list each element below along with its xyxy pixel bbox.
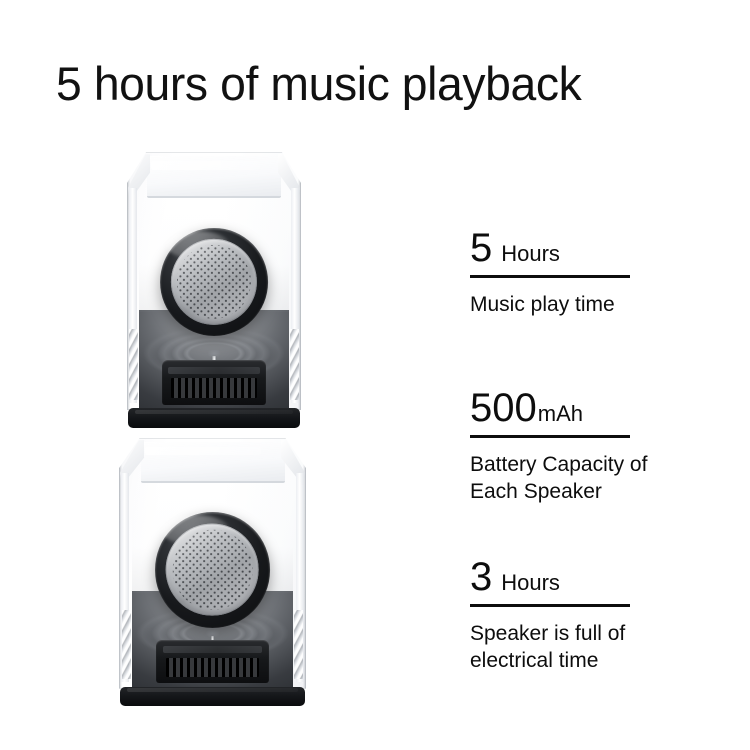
spec-value: 3 — [470, 555, 492, 599]
spec-description: Battery Capacity ofEach Speaker — [470, 451, 730, 505]
faceted-strip-left — [122, 610, 132, 680]
spec-item-charge: 3 Hours Speaker is full ofelectrical tim… — [470, 555, 730, 674]
base-vent-block — [162, 360, 266, 404]
acrylic-lid — [141, 442, 285, 483]
speaker-unit-bottom — [119, 438, 306, 706]
faceted-strip-right — [290, 329, 299, 401]
base-plinth — [128, 408, 300, 428]
faceted-strip-right — [294, 610, 304, 680]
spec-value: 500 — [470, 386, 537, 430]
spec-headline: 5 Hours — [470, 226, 730, 270]
speaker-unit-top — [127, 152, 301, 428]
product-image-column — [0, 0, 430, 750]
base-vent-slots — [166, 658, 258, 678]
spec-description: Speaker is full ofelectrical time — [470, 620, 730, 674]
spec-unit: mAh — [538, 402, 583, 426]
base-plinth — [120, 687, 305, 706]
acrylic-lid — [147, 156, 281, 198]
spec-unit: Hours — [501, 242, 560, 266]
grille-sheen — [166, 523, 259, 616]
spec-unit: Hours — [501, 571, 560, 595]
spec-description: Music play time — [470, 291, 730, 318]
speaker-driver-ring — [155, 512, 271, 628]
faceted-strip-left — [129, 329, 138, 401]
grille-sheen — [171, 239, 257, 325]
spec-divider — [470, 435, 630, 438]
spec-item-battery: 500 mAh Battery Capacity ofEach Speaker — [470, 386, 730, 505]
spec-divider — [470, 604, 630, 607]
spec-item-playtime: 5 Hours Music play time — [470, 226, 730, 318]
spec-divider — [470, 275, 630, 278]
spec-headline: 500 mAh — [470, 386, 730, 430]
speaker-grille — [166, 523, 259, 616]
base-vent-slots — [171, 378, 257, 398]
spec-headline: 3 Hours — [470, 555, 730, 599]
spec-value: 5 — [470, 226, 492, 270]
speaker-driver-ring — [160, 228, 268, 336]
base-vent-block — [156, 640, 268, 683]
speaker-grille — [171, 239, 257, 325]
